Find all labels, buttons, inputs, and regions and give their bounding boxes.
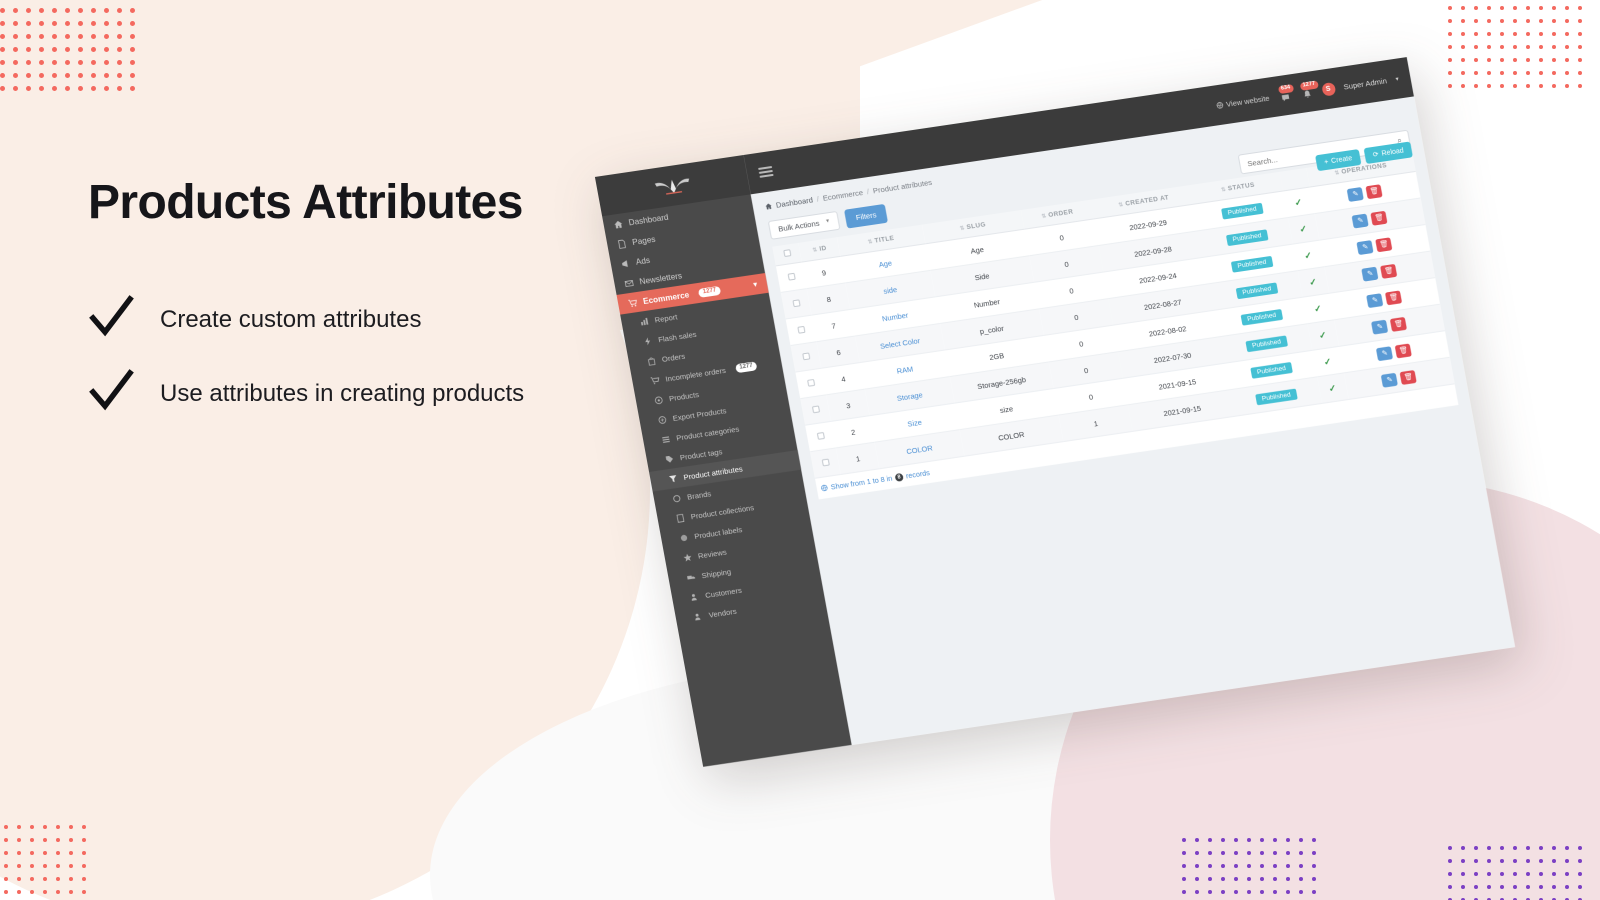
column-header-label: STATUS [1227, 182, 1255, 193]
dot [69, 851, 73, 855]
attribute-link[interactable]: Number [881, 310, 909, 323]
dot [1474, 32, 1478, 36]
dot [1448, 859, 1452, 863]
breadcrumb-separator: / [866, 187, 870, 196]
dot [1195, 890, 1199, 894]
attribute-link[interactable]: COLOR [906, 443, 934, 456]
dot [1565, 32, 1569, 36]
dot [130, 8, 135, 13]
check-icon: ✓ [1308, 276, 1317, 287]
dot [1234, 890, 1238, 894]
attribute-link[interactable]: Size [907, 417, 923, 428]
dot [1182, 864, 1186, 868]
sidebar-item-badge: 1277 [698, 285, 721, 297]
dot [1461, 6, 1465, 10]
dot [1539, 58, 1543, 62]
dot [130, 86, 135, 91]
check-icon [88, 294, 134, 340]
dot [1247, 877, 1251, 881]
globe-icon [1216, 101, 1224, 109]
dot [117, 47, 122, 52]
dot [1513, 19, 1517, 23]
dot [1273, 877, 1277, 881]
dot [17, 838, 21, 842]
dot [1474, 6, 1478, 10]
dot [39, 21, 44, 26]
dot [1526, 45, 1530, 49]
dot [52, 47, 57, 52]
dot [1539, 872, 1543, 876]
dot [1221, 851, 1225, 855]
dot [65, 47, 70, 52]
dot [1578, 19, 1582, 23]
dot [30, 877, 34, 881]
dot [1526, 6, 1530, 10]
dot [1299, 890, 1303, 894]
attribute-link[interactable]: Storage [896, 390, 923, 403]
dot [39, 73, 44, 78]
dot [1474, 45, 1478, 49]
edit-icon[interactable]: ✎ [1352, 213, 1369, 228]
dot [1552, 872, 1556, 876]
dot [56, 877, 60, 881]
dot [69, 890, 73, 894]
dot [1513, 859, 1517, 863]
row-checkbox[interactable] [792, 299, 800, 307]
dot [1500, 32, 1504, 36]
dot [17, 877, 21, 881]
dot [1260, 890, 1264, 894]
dot [1578, 6, 1582, 10]
column-header-label: CREATED AT [1125, 194, 1170, 207]
main-panel: View website 634 1277 S Super Admin ▾ [743, 57, 1515, 745]
attribute-link[interactable]: Select Color [879, 336, 920, 351]
dot [1513, 6, 1517, 10]
dot [1500, 45, 1504, 49]
dot [1221, 838, 1225, 842]
dot [1539, 885, 1543, 889]
view-website-link[interactable]: View website [1215, 93, 1270, 110]
dot [30, 864, 34, 868]
file-icon [617, 239, 628, 249]
trash-icon[interactable]: 🗑 [1400, 369, 1417, 384]
breadcrumb-separator: / [816, 194, 820, 203]
dot [1539, 32, 1543, 36]
messages-notification[interactable]: 634 [1277, 87, 1292, 103]
dot [1208, 838, 1212, 842]
dot [13, 86, 18, 91]
dot [69, 838, 73, 842]
dot [1487, 19, 1491, 23]
dot [1474, 859, 1478, 863]
row-checkbox[interactable] [787, 272, 795, 280]
dot [1578, 45, 1582, 49]
dot [0, 86, 5, 91]
check-icon: ✓ [1323, 356, 1332, 367]
dot [1461, 32, 1465, 36]
sidebar-item-label: Customers [704, 585, 742, 599]
filters-button[interactable]: Filters [844, 203, 888, 228]
chevron-down-icon[interactable]: ▾ [1395, 75, 1399, 82]
dot [117, 73, 122, 78]
dot [1260, 851, 1264, 855]
dot [4, 825, 8, 829]
dot [1247, 851, 1251, 855]
select-all-checkbox[interactable] [783, 249, 791, 257]
dot [78, 34, 83, 39]
status-badge: Published [1221, 202, 1264, 219]
dot [1312, 864, 1316, 868]
check-icon: ✓ [1299, 223, 1308, 234]
dot [17, 890, 21, 894]
dot [1552, 84, 1556, 88]
dot [1461, 859, 1465, 863]
status-badge: Published [1245, 335, 1288, 352]
dot [26, 21, 31, 26]
dot [1474, 58, 1478, 62]
dot [1539, 45, 1543, 49]
dot [1286, 838, 1290, 842]
dot [43, 851, 47, 855]
dot [0, 60, 5, 65]
dot [1273, 890, 1277, 894]
dot [1461, 84, 1465, 88]
dot [1526, 859, 1530, 863]
dot [78, 60, 83, 65]
dot [1565, 84, 1569, 88]
dot [1461, 45, 1465, 49]
dot [1565, 19, 1569, 23]
alerts-notification[interactable]: 1277 [1299, 84, 1314, 100]
check-icon: ✓ [1313, 303, 1322, 314]
status-badge: Published [1231, 255, 1274, 272]
dot [1286, 877, 1290, 881]
dot [1448, 872, 1452, 876]
dot [13, 21, 18, 26]
dot [1448, 84, 1452, 88]
edit-icon[interactable]: ✎ [1362, 266, 1379, 281]
sort-icon: ⇅ [959, 225, 965, 232]
sidebar-item-label: Report [654, 312, 678, 324]
dot [91, 34, 96, 39]
dot [1448, 846, 1452, 850]
dot [1299, 864, 1303, 868]
dot [1578, 71, 1582, 75]
dot [104, 21, 109, 26]
dot [0, 47, 5, 52]
dot [52, 86, 57, 91]
dot [1578, 32, 1582, 36]
cart-icon [627, 298, 638, 308]
status-badge: Published [1240, 308, 1283, 325]
dot [1487, 45, 1491, 49]
sort-icon: ⇅ [1334, 170, 1340, 177]
chevron-down-icon[interactable]: ▾ [753, 280, 758, 288]
dot [82, 877, 86, 881]
dot [4, 864, 8, 868]
check-icon: ✓ [1303, 249, 1312, 260]
dot [104, 73, 109, 78]
bulk-actions-label: Bulk Actions [777, 218, 820, 233]
dot [1247, 838, 1251, 842]
dot [1286, 851, 1290, 855]
users-icon [690, 591, 701, 601]
row-checkbox[interactable] [807, 378, 815, 386]
dot [1526, 58, 1530, 62]
dot [0, 34, 5, 39]
plus-icon: + [1324, 158, 1329, 165]
dot [1500, 885, 1504, 889]
trash-icon[interactable]: 🗑 [1390, 316, 1407, 331]
dot [1286, 890, 1290, 894]
dot [1247, 864, 1251, 868]
row-checkbox[interactable] [797, 325, 805, 333]
dashboard-screenshot: DashboardPagesAdsNewslettersEcommerce127… [595, 57, 1515, 767]
dot [1487, 885, 1491, 889]
dot [104, 34, 109, 39]
trash-icon[interactable]: 🗑 [1376, 237, 1393, 252]
sidebar-item-label: Pages [631, 234, 656, 246]
dot [1448, 19, 1452, 23]
edit-icon[interactable]: ✎ [1381, 372, 1398, 387]
dot [1182, 838, 1186, 842]
edit-icon[interactable]: ✎ [1371, 319, 1388, 334]
dot [1260, 838, 1264, 842]
column-header-label: TITLE [874, 235, 895, 245]
status-badge: Published [1236, 282, 1279, 299]
dot [1448, 45, 1452, 49]
sidebar-item-label: Ecommerce [642, 290, 690, 306]
dot [1448, 32, 1452, 36]
dot [82, 890, 86, 894]
edit-icon[interactable]: ✎ [1347, 186, 1364, 201]
dot [1539, 6, 1543, 10]
dot [65, 73, 70, 78]
bag-icon [646, 355, 657, 365]
botble-wings-logo-icon [651, 172, 695, 199]
dot [104, 86, 109, 91]
dot [52, 8, 57, 13]
sort-icon: ⇅ [1118, 202, 1124, 209]
dot [69, 877, 73, 881]
chart-icon [639, 316, 650, 326]
dot [1474, 71, 1478, 75]
footer-prefix: Show from 1 to 8 in [830, 474, 893, 492]
content-area: Dashboard / Ecommerce / Product attribut… [751, 96, 1515, 745]
dot [43, 864, 47, 868]
dot [1500, 6, 1504, 10]
collection-icon [675, 513, 686, 523]
dot [82, 851, 86, 855]
dot [1487, 859, 1491, 863]
envelope-icon [624, 278, 635, 288]
dot [1195, 877, 1199, 881]
dot [13, 73, 18, 78]
dot [52, 60, 57, 65]
dot [1234, 838, 1238, 842]
sidebar-item-label: Ads [635, 255, 651, 266]
dot [1539, 84, 1543, 88]
bolt-icon [643, 336, 654, 346]
dot [39, 47, 44, 52]
dot [1487, 71, 1491, 75]
dot [1513, 872, 1517, 876]
dot [1448, 71, 1452, 75]
dot [65, 60, 70, 65]
dot [30, 851, 34, 855]
trash-icon[interactable]: 🗑 [1366, 184, 1383, 199]
dot [1552, 859, 1556, 863]
dot [1578, 58, 1582, 62]
dot [130, 60, 135, 65]
user-name[interactable]: Super Admin [1343, 76, 1388, 91]
dot [78, 73, 83, 78]
dot [39, 34, 44, 39]
dot [1552, 71, 1556, 75]
tag-icon [664, 454, 675, 464]
home-icon [765, 202, 773, 210]
dot [82, 864, 86, 868]
sidebar-item-label: Orders [661, 351, 686, 363]
dot [78, 47, 83, 52]
dot [1578, 859, 1582, 863]
attribute-link[interactable]: side [883, 284, 898, 295]
dot [17, 851, 21, 855]
trash-icon[interactable]: 🗑 [1380, 263, 1397, 278]
dot [1487, 32, 1491, 36]
create-label: Create [1331, 155, 1353, 165]
dot [1513, 71, 1517, 75]
dot [1474, 885, 1478, 889]
dot [1208, 851, 1212, 855]
dot [1552, 58, 1556, 62]
dot [1487, 6, 1491, 10]
dot [1578, 872, 1582, 876]
attribute-link[interactable]: RAM [896, 364, 914, 375]
dot [1500, 872, 1504, 876]
edit-icon[interactable]: ✎ [1357, 240, 1374, 255]
dot [56, 838, 60, 842]
row-checkbox[interactable] [821, 458, 829, 466]
dot [1461, 846, 1465, 850]
dot [1260, 877, 1264, 881]
dot [43, 890, 47, 894]
comment-icon [1280, 93, 1291, 103]
dot [43, 838, 47, 842]
edit-icon[interactable]: ✎ [1376, 346, 1393, 361]
product-attributes-table: ⇅ID⇅TITLE⇅SLUG⇅ORDER⇅CREATED AT⇅STATUS⇅O… [772, 152, 1454, 479]
dot [0, 73, 5, 78]
trash-icon[interactable]: 🗑 [1385, 290, 1402, 305]
dot [1234, 864, 1238, 868]
dot [82, 825, 86, 829]
check-icon: ✓ [1318, 329, 1327, 340]
dot [104, 47, 109, 52]
dot [1448, 885, 1452, 889]
bulk-actions-dropdown[interactable]: Bulk Actions ▼ [768, 210, 841, 239]
dot [4, 851, 8, 855]
hamburger-icon[interactable] [758, 164, 774, 180]
dot [1474, 872, 1478, 876]
dot [1461, 71, 1465, 75]
dot [1221, 864, 1225, 868]
dot [1500, 846, 1504, 850]
dot [1578, 846, 1582, 850]
check-icon: ✓ [1328, 382, 1337, 393]
edit-icon[interactable]: ✎ [1367, 293, 1384, 308]
sidebar-item-label: Flash sales [657, 329, 697, 343]
breadcrumb-item-product-attributes[interactable]: Product attributes [872, 178, 933, 196]
attribute-link[interactable]: Age [878, 258, 893, 269]
breadcrumb-item-dashboard[interactable]: Dashboard [775, 195, 813, 209]
sidebar-item-label: Newsletters [639, 271, 683, 286]
row-checkbox[interactable] [802, 352, 810, 360]
dot [104, 60, 109, 65]
sort-icon: ⇅ [867, 239, 873, 246]
dot [117, 21, 122, 26]
dot [1461, 885, 1465, 889]
bell-icon [1302, 89, 1313, 99]
dot [1552, 846, 1556, 850]
sidebar-item-label: Export Products [672, 406, 727, 423]
dot [1273, 864, 1277, 868]
trash-icon[interactable]: 🗑 [1371, 210, 1388, 225]
dot [30, 890, 34, 894]
funnel-icon [668, 473, 679, 483]
sidebar-item-label: Reviews [697, 547, 727, 560]
dot [117, 34, 122, 39]
dot [117, 8, 122, 13]
dot [26, 86, 31, 91]
dot [1312, 890, 1316, 894]
breadcrumb-item-ecommerce[interactable]: Ecommerce [822, 188, 864, 203]
dot [30, 825, 34, 829]
dot [26, 73, 31, 78]
dot [117, 60, 122, 65]
column-header-label: ORDER [1048, 208, 1074, 219]
row-checkbox[interactable] [816, 432, 824, 440]
dot [39, 60, 44, 65]
dot [1565, 58, 1569, 62]
dot [1234, 877, 1238, 881]
dot [1208, 864, 1212, 868]
row-checkbox[interactable] [812, 405, 820, 413]
dot [1195, 851, 1199, 855]
status-badge: Published [1250, 362, 1293, 379]
dot [1461, 872, 1465, 876]
dot [1513, 84, 1517, 88]
dot [1552, 885, 1556, 889]
dot [1565, 885, 1569, 889]
sidebar-item-label: Dashboard [628, 212, 669, 227]
avatar[interactable]: S [1321, 82, 1336, 97]
dot [1565, 872, 1569, 876]
megaphone-icon [620, 258, 631, 268]
dot [13, 8, 18, 13]
dot [1565, 859, 1569, 863]
filters-label: Filters [855, 210, 877, 222]
dot [1539, 71, 1543, 75]
dot [130, 21, 135, 26]
dot [91, 47, 96, 52]
column-header-label: SLUG [966, 221, 986, 231]
sort-icon: ⇅ [1221, 187, 1227, 194]
dot [13, 34, 18, 39]
dot [1448, 58, 1452, 62]
dot [1474, 84, 1478, 88]
trash-icon[interactable]: 🗑 [1395, 343, 1412, 358]
dot [1487, 846, 1491, 850]
